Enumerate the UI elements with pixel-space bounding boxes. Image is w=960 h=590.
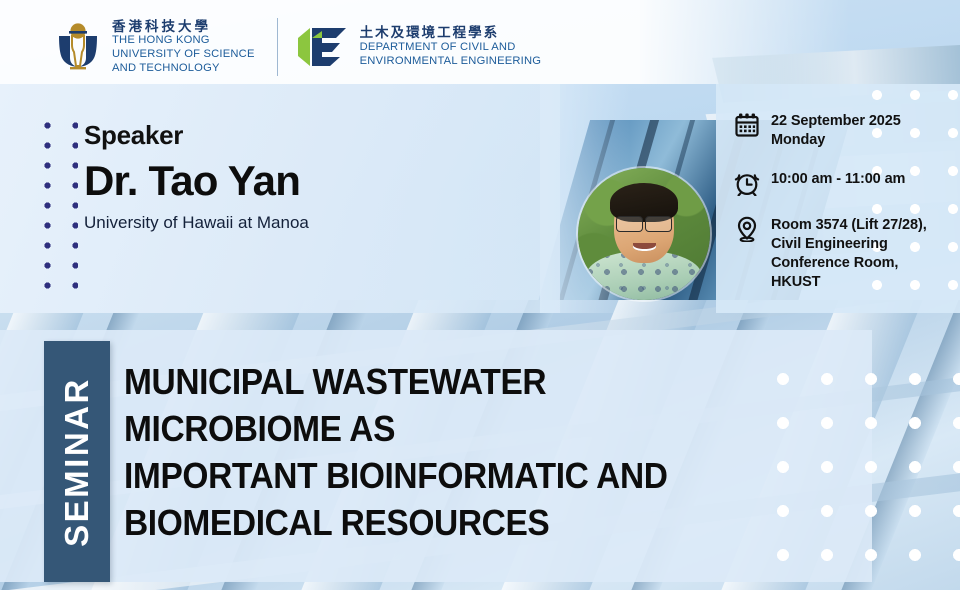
dot-grid-decoration <box>44 122 78 294</box>
logo-lockup: 香港科技大學 THE HONG KONG UNIVERSITY OF SCIEN… <box>56 18 541 76</box>
event-venue-1: Room 3574 (Lift 27/28), <box>771 216 927 235</box>
event-date: 22 September 2025 <box>771 112 901 131</box>
detail-row-venue: Room 3574 (Lift 27/28), Civil Engineerin… <box>734 216 927 293</box>
alarm-clock-icon <box>734 170 760 196</box>
calendar-icon <box>734 112 760 138</box>
seminar-category-label: SEMINAR <box>58 377 96 547</box>
hkust-name-cn: 香港科技大學 <box>112 19 255 35</box>
cive-wordmark: 土木及環境工程學系 DEPARTMENT OF CIVIL AND ENVIRO… <box>360 25 542 69</box>
header-bar-fade <box>640 0 850 84</box>
event-venue-4: HKUST <box>771 273 927 292</box>
event-time: 10:00 am - 11:00 am <box>771 170 905 189</box>
logo-divider <box>277 18 278 76</box>
event-venue-2: Civil Engineering <box>771 235 927 254</box>
cive-name-en-1: DEPARTMENT OF CIVIL AND <box>360 41 542 55</box>
cive-name-en-2: ENVIRONMENTAL ENGINEERING <box>360 55 542 69</box>
seminar-category-band: SEMINAR <box>44 341 110 582</box>
detail-row-date: 22 September 2025 Monday <box>734 112 901 150</box>
seminar-title: MUNICIPAL WASTEWATER MICROBIOME AS IMPOR… <box>124 358 766 547</box>
detail-row-time: 10:00 am - 11:00 am <box>734 170 905 196</box>
hkust-name-en-3: AND TECHNOLOGY <box>112 62 255 76</box>
seminar-poster: 香港科技大學 THE HONG KONG UNIVERSITY OF SCIEN… <box>0 0 960 590</box>
seminar-title-line-1: MUNICIPAL WASTEWATER MICROBIOME AS <box>124 358 766 452</box>
hkust-name-en-1: THE HONG KONG <box>112 34 255 48</box>
hkust-emblem-icon <box>56 22 100 72</box>
dot-pattern-bottom-right <box>772 368 960 590</box>
cive-emblem-icon <box>296 26 348 68</box>
cive-name-cn: 土木及環境工程學系 <box>360 25 542 41</box>
speaker-affiliation: University of Hawaii at Manoa <box>84 213 309 233</box>
speaker-portrait <box>578 168 710 300</box>
seminar-title-line-2: IMPORTANT BIOINFORMATIC AND <box>124 452 766 499</box>
hkust-wordmark: 香港科技大學 THE HONG KONG UNIVERSITY OF SCIEN… <box>112 19 255 75</box>
location-pin-icon <box>734 216 760 242</box>
speaker-name: Dr. Tao Yan <box>84 160 300 202</box>
event-venue-3: Conference Room, <box>771 254 927 273</box>
speaker-label: Speaker <box>84 120 183 151</box>
hkust-name-en-2: UNIVERSITY OF SCIENCE <box>112 48 255 62</box>
event-weekday: Monday <box>771 131 901 150</box>
seminar-title-line-3: BIOMEDICAL RESOURCES <box>124 499 766 546</box>
